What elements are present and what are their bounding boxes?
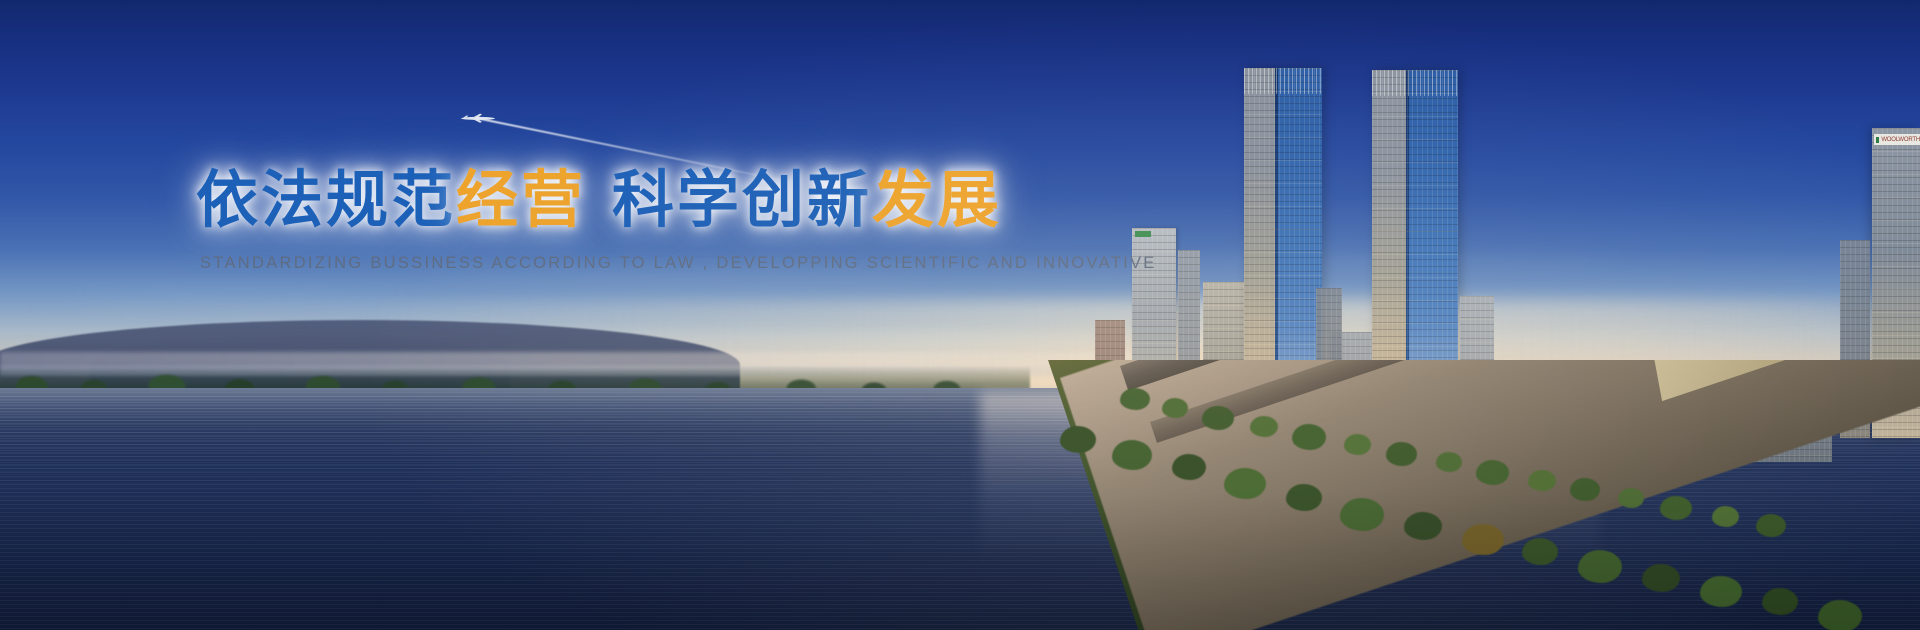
headline-segment-1: 依法规范 <box>196 166 456 235</box>
right-bank <box>1000 360 1920 630</box>
page-title: 依法规范经营科学创新发展 <box>196 168 1096 234</box>
page-subtitle: STANDARDIZING BUSSINESS ACCORDING TO LAW… <box>200 254 1096 273</box>
headline-segment-2: 经营 <box>456 166 586 235</box>
banner-copy: 依法规范经营科学创新发展 STANDARDIZING BUSSINESS ACC… <box>196 168 1096 273</box>
woolworth-sign: WOOLWORTH <box>1874 134 1920 145</box>
woolworth-logo-mark <box>1876 137 1879 143</box>
headline-segment-4: 发展 <box>872 166 1002 235</box>
headline-segment-3: 科学创新 <box>612 166 872 235</box>
hero-banner: WOOLWORTH <box>0 0 1920 630</box>
tower2-crown <box>1372 70 1458 96</box>
rooftop-sign-green <box>1135 231 1151 237</box>
woolworth-sign-label: WOOLWORTH <box>1881 137 1920 143</box>
tower-crown <box>1244 68 1322 94</box>
stone-revetment <box>1060 360 1920 630</box>
